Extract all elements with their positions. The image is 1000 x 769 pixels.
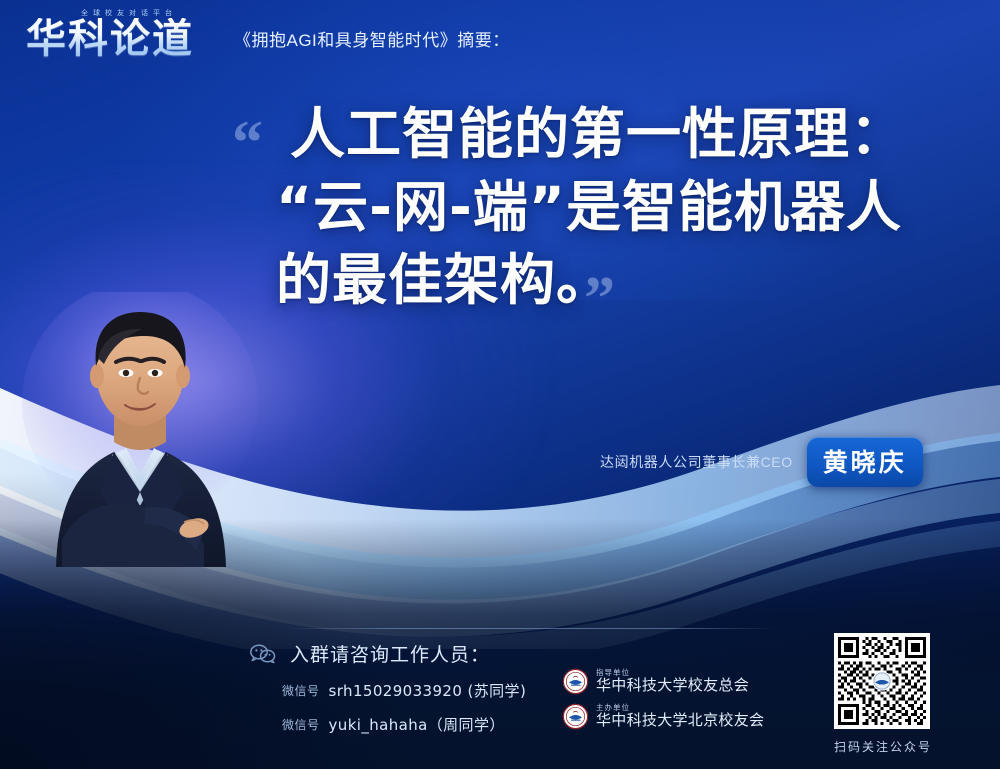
speaker-name-badge: 黄晓庆 (807, 437, 923, 487)
logo-wordmark: 华科论道 (26, 18, 218, 60)
section-divider (287, 628, 777, 629)
university-seal-icon (562, 703, 589, 730)
quote-close-mark: ” (584, 268, 615, 330)
quote-line-3: 的最佳架构。 (276, 244, 972, 317)
speaker-credit: 达闼机器人公司董事长兼CEO 黄晓庆 (600, 437, 923, 487)
organization-kind: 指导单位 (596, 669, 749, 677)
qr-section: 扫码关注公众号 (834, 633, 932, 755)
quote-open-mark: “ (232, 112, 263, 174)
wechat-id: yuki_hahaha（周同学） (329, 714, 505, 735)
wechat-icon (250, 644, 276, 664)
wechat-id: srh15029033920 (苏同学) (329, 680, 527, 701)
organization-item: 主办单位 华中科技大学北京校友会 (562, 703, 764, 730)
organization-kind: 主办单位 (596, 704, 764, 712)
quote-line-2: “云-网-端”是智能机器人 (276, 171, 972, 244)
speaker-role: 达闼机器人公司董事长兼CEO (600, 452, 793, 472)
university-seal-icon (562, 668, 589, 695)
organization-name: 华中科技大学北京校友会 (596, 712, 764, 729)
page-title: 《拥抱AGI和具身智能时代》摘要： (234, 26, 510, 60)
logo-tagline: 全球校友对话平台 (40, 8, 218, 18)
qr-caption: 扫码关注公众号 (834, 738, 932, 755)
wechat-label: 微信号 (282, 682, 320, 699)
organization-name: 华中科技大学校友总会 (596, 677, 749, 694)
contact-title: 入群请咨询工作人员： (290, 640, 490, 667)
speaker-portrait (18, 292, 268, 567)
poster-root: 全球校友对话平台 华科论道 《拥抱AGI和具身智能时代》摘要： “ ” 人工智能… (0, 0, 1000, 769)
header: 全球校友对话平台 华科论道 《拥抱AGI和具身智能时代》摘要： (26, 8, 510, 60)
organizations: 指导单位 华中科技大学校友总会 主办单位 华中科技大学北京校友会 (562, 668, 764, 738)
qr-code[interactable] (834, 633, 930, 729)
quote-block: “ ” 人工智能的第一性原理： “云-网-端”是智能机器人 的最佳架构。 (232, 98, 972, 317)
quote-line-1: 人工智能的第一性原理： (290, 98, 972, 171)
wechat-label: 微信号 (282, 716, 320, 733)
brand-logo: 全球校友对话平台 华科论道 (26, 8, 218, 60)
organization-item: 指导单位 华中科技大学校友总会 (562, 668, 764, 695)
